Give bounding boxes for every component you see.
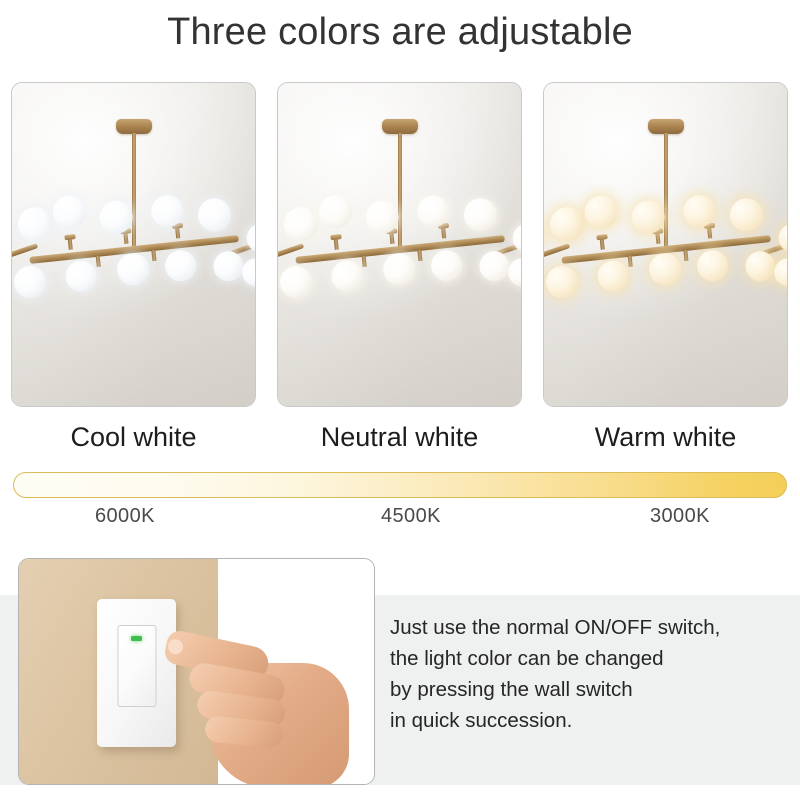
bulb-stub	[361, 256, 366, 267]
hand-illustration	[171, 635, 351, 785]
globe-bulb	[278, 264, 313, 299]
temperature-label-6000k: 6000K	[95, 505, 155, 528]
globe-bulb	[277, 216, 278, 251]
globe-bulb	[381, 252, 416, 287]
bulb-stub	[655, 233, 660, 244]
fingernail	[167, 638, 185, 656]
globe-bulb	[330, 259, 364, 293]
page-title: Three colors are adjustable	[0, 6, 800, 58]
product-panel-cool-white[interactable]	[11, 82, 256, 407]
product-panels	[0, 82, 800, 407]
chandelier-illustration-neutral-white	[278, 83, 521, 406]
globe-bulb	[596, 259, 630, 293]
globe-bulb	[583, 194, 619, 230]
instruction-line-1: Just use the normal ON/OFF switch,	[390, 612, 790, 643]
globe-bulb	[16, 206, 53, 243]
bulb-cap	[596, 234, 607, 240]
bulb-cap	[64, 234, 75, 240]
globe-bulb	[317, 194, 353, 230]
globe-bulb	[647, 252, 682, 287]
switch-plate[interactable]	[97, 599, 176, 747]
bulb-stub	[389, 233, 394, 244]
globe-bulb	[477, 250, 510, 283]
ceiling-canopy-icon	[382, 119, 418, 134]
bulb-stub	[175, 227, 180, 238]
caption-cool-white: Cool white	[11, 418, 256, 456]
bulb-stub	[441, 227, 446, 238]
bulb-stub	[151, 250, 156, 261]
bulb-stub	[333, 238, 338, 249]
panel-captions: Cool white Neutral white Warm white	[0, 418, 800, 458]
globe-bulb	[115, 252, 150, 287]
globe-bulb	[12, 264, 47, 299]
bulb-stub	[123, 233, 128, 244]
caption-neutral-white: Neutral white	[277, 418, 522, 456]
switch-rocker[interactable]	[117, 625, 156, 707]
caption-warm-white: Warm white	[543, 418, 788, 456]
chandelier-illustration-warm-white	[544, 83, 787, 406]
color-temperature-gradient-bar	[13, 472, 787, 498]
instruction-line-3: by pressing the wall switch	[390, 674, 790, 705]
globe-bulb	[543, 216, 544, 251]
downrod	[398, 133, 402, 251]
globe-bulb	[548, 206, 585, 243]
bulb-stub	[95, 256, 100, 267]
globe-bulb	[695, 249, 729, 283]
instruction-line-2: the light color can be changed	[390, 643, 790, 674]
bulb-stub	[683, 250, 688, 261]
globe-bulb	[282, 206, 319, 243]
wall-switch-photo[interactable]	[18, 558, 375, 785]
instruction-line-4: in quick succession.	[390, 705, 790, 736]
chandelier-illustration-cool-white	[12, 83, 255, 406]
product-panel-warm-white[interactable]	[543, 82, 788, 407]
globe-bulb	[64, 259, 98, 293]
globe-bulb	[544, 264, 579, 299]
downrod	[664, 133, 668, 251]
globe-bulb	[51, 194, 87, 230]
bulb-stub	[599, 238, 604, 249]
globe-bulb	[196, 197, 232, 233]
color-temperature-labels: 6000K 4500K 3000K	[0, 505, 800, 535]
temperature-label-3000k: 3000K	[650, 505, 710, 528]
downrod	[132, 133, 136, 251]
led-indicator-icon	[131, 636, 142, 641]
globe-bulb	[462, 197, 498, 233]
globe-bulb	[429, 249, 463, 283]
ceiling-canopy-icon	[648, 119, 684, 134]
bulb-stub	[67, 238, 72, 249]
globe-bulb	[743, 250, 776, 283]
product-panel-neutral-white[interactable]	[277, 82, 522, 407]
bulb-cap	[330, 234, 341, 240]
globe-bulb	[163, 249, 197, 283]
bulb-stub	[627, 256, 632, 267]
globe-bulb	[11, 216, 12, 251]
ceiling-canopy-icon	[116, 119, 152, 134]
bulb-stub	[707, 227, 712, 238]
instruction-text: Just use the normal ON/OFF switch, the l…	[390, 612, 790, 736]
bulb-stub	[417, 250, 422, 261]
globe-bulb	[728, 197, 764, 233]
temperature-label-4500k: 4500K	[381, 505, 441, 528]
globe-bulb	[211, 250, 244, 283]
